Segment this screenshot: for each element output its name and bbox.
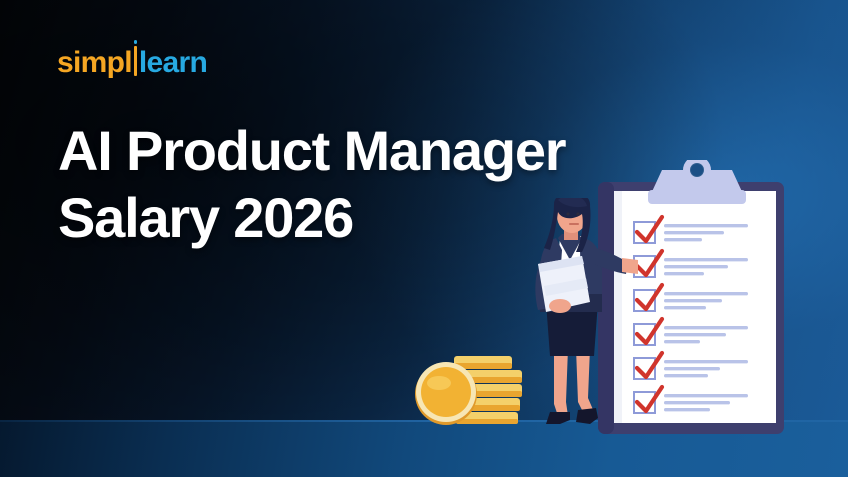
hand-left bbox=[549, 299, 571, 313]
eye bbox=[566, 212, 569, 215]
simplilearn-banner: simpllearn AI Product Manager Salary 202… bbox=[0, 0, 848, 477]
eye bbox=[576, 212, 579, 215]
shoe-left bbox=[546, 412, 570, 424]
hand-right-pointing bbox=[622, 258, 638, 274]
hero-illustration bbox=[0, 0, 848, 477]
leg-left bbox=[554, 348, 568, 416]
gold-coin-stack bbox=[414, 352, 528, 428]
clipboard-clip-icon bbox=[648, 160, 746, 204]
shoe-right bbox=[576, 408, 598, 424]
front-coin bbox=[415, 362, 477, 425]
leg-right bbox=[576, 348, 594, 414]
